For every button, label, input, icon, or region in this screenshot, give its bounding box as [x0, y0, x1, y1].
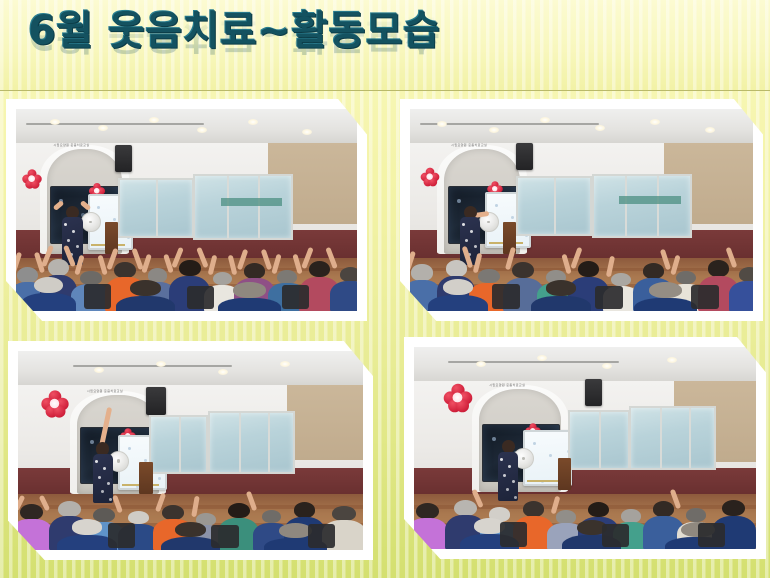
- spotlight-icon: [156, 361, 166, 367]
- photo-frame-bottom-left[interactable]: 시립요양원 웃음치료교실: [8, 341, 373, 560]
- spotlight-icon: [218, 369, 228, 375]
- ceiling: [18, 351, 363, 385]
- flower-decoration-icon: [420, 167, 439, 186]
- speaker-icon: [585, 379, 602, 405]
- photo-bottom-right: 시립요양원 웃음치료교실: [414, 347, 756, 549]
- chair: [691, 285, 718, 309]
- chair: [698, 523, 725, 547]
- flower-decoration-icon: [443, 384, 472, 413]
- chair: [602, 524, 629, 547]
- chair: [308, 524, 336, 548]
- ceiling: [414, 347, 756, 381]
- wall-sign: 시립요양원 웃음치료교실: [87, 389, 123, 393]
- audience-member: [431, 276, 486, 311]
- speaker-icon: [516, 143, 533, 169]
- audience-member: [414, 498, 448, 549]
- spotlight-icon: [248, 119, 258, 125]
- ceiling-rail: [448, 361, 619, 363]
- spotlight-icon: [476, 361, 486, 367]
- spotlight-icon: [197, 127, 207, 133]
- audience-group: [410, 214, 753, 311]
- chair: [108, 523, 136, 548]
- title-band: 6월 웃음치료~활동모습 6월 웃음치료~활동모습: [0, 0, 770, 91]
- chair: [84, 284, 111, 309]
- photo-frame-top-left[interactable]: 시립요양원 웃음치료교실: [6, 99, 367, 321]
- ceiling: [410, 109, 753, 143]
- chair: [282, 285, 309, 309]
- audience-member: [18, 499, 53, 550]
- photo-top-right: 시립요양원 웃음치료교실: [410, 109, 753, 311]
- ceiling: [16, 109, 357, 143]
- ceiling-rail: [420, 123, 598, 125]
- wall-sign: 시립요양원 웃음치료교실: [489, 383, 525, 387]
- audience-member: [118, 278, 173, 311]
- side-wall: [287, 385, 363, 461]
- speaker-icon: [146, 387, 167, 415]
- speaker-icon: [115, 145, 132, 171]
- photo-bottom-left: 시립요양원 웃음치료교실: [18, 351, 363, 550]
- audience-member: [533, 278, 588, 311]
- audience-member: [636, 280, 694, 311]
- slide-canvas: 6월 웃음치료~활동모습 6월 웃음치료~활동모습 시립요양원 웃음치료교실: [0, 0, 770, 578]
- photo-frame-bottom-right[interactable]: 시립요양원 웃음치료교실: [404, 337, 766, 559]
- chair: [492, 284, 519, 309]
- audience-member: [163, 520, 218, 550]
- flower-decoration-icon: [23, 169, 43, 189]
- audience-member: [221, 280, 279, 311]
- audience-group: [16, 214, 357, 311]
- photo-frame-top-right[interactable]: 시립요양원 웃음치료교실: [400, 99, 763, 321]
- chair: [211, 525, 239, 548]
- chair: [187, 286, 214, 309]
- page-title: 6월 웃음치료~활동모습: [28, 10, 440, 52]
- audience-member: [59, 517, 114, 550]
- audience-group: [414, 456, 756, 549]
- flower-decoration-icon: [41, 390, 68, 417]
- spotlight-icon: [94, 367, 104, 373]
- window-reflection: [221, 198, 282, 206]
- audience-member: [23, 274, 74, 311]
- wall-sign: 시립요양원 웃음치료교실: [54, 143, 90, 147]
- photo-top-left: 시립요양원 웃음치료교실: [16, 109, 357, 311]
- window-reflection: [619, 196, 681, 204]
- audience-member: [330, 261, 357, 311]
- chair: [500, 522, 527, 547]
- audience-member: [729, 261, 753, 311]
- chair: [595, 286, 622, 309]
- wall-sign: 시립요양원 웃음치료교실: [451, 143, 487, 147]
- audience-group: [18, 458, 363, 550]
